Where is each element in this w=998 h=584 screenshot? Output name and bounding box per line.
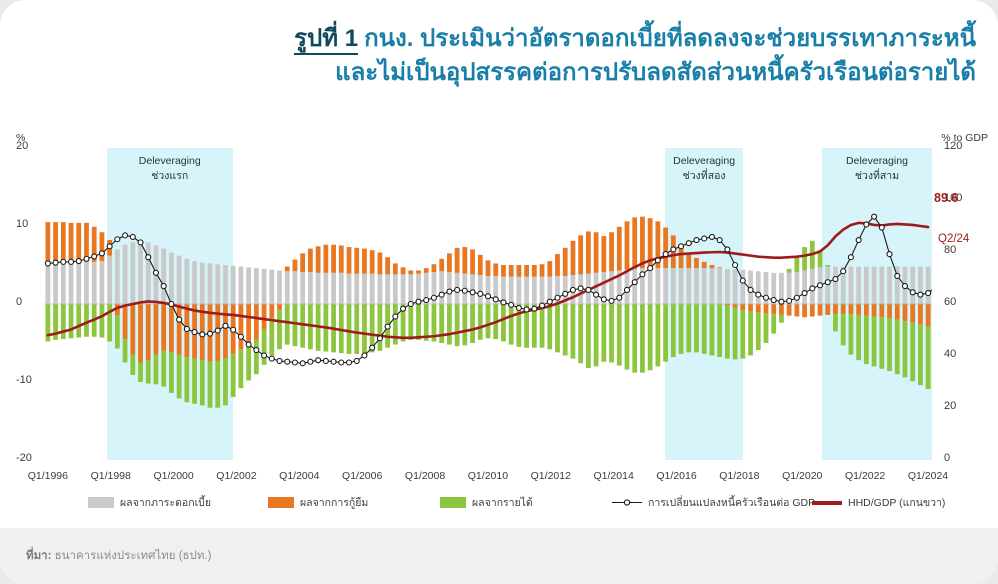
line-marker (447, 289, 452, 294)
line-marker (177, 317, 182, 322)
figure-header: รูปที่ 1กนง. ประเมินว่าอัตราดอกเบี้ยที่ล… (0, 0, 998, 118)
bar-borrowing (347, 247, 352, 274)
line-marker (640, 272, 645, 277)
bar-income (501, 304, 506, 341)
bar-borrowing (756, 304, 761, 313)
bar-interest (887, 267, 892, 304)
bar-interest (910, 267, 915, 304)
line-marker (586, 287, 591, 292)
band-label-th: ช่วงแรก (107, 169, 233, 184)
bar-interest (679, 268, 684, 304)
bar-income (138, 363, 143, 383)
bar-income (671, 304, 676, 357)
bar-borrowing (308, 249, 313, 272)
bar-borrowing (269, 304, 274, 318)
bar-interest (323, 273, 328, 304)
bar-borrowing (401, 267, 406, 274)
bar-interest (92, 262, 97, 304)
bar-income (710, 304, 715, 355)
bar-income (416, 304, 421, 340)
x-tick-label: Q1/2002 (202, 470, 270, 482)
x-tick-label: Q1/2020 (768, 470, 836, 482)
line-marker (285, 359, 290, 364)
bar-interest (53, 264, 58, 304)
line-marker (702, 236, 707, 241)
bar-borrowing (841, 304, 846, 314)
deleveraging-band-label-2: Deleveragingช่วงที่สอง (665, 154, 744, 184)
bar-income (787, 269, 792, 273)
legend-item[interactable]: ผลจากรายได้ (440, 494, 533, 511)
bar-income (694, 304, 699, 352)
line-marker (69, 259, 74, 264)
bar-income (231, 354, 236, 397)
bar-borrowing (818, 304, 823, 316)
bar-interest (269, 270, 274, 304)
bar-borrowing (578, 235, 583, 274)
bar-income (625, 304, 630, 370)
bar-interest (516, 277, 521, 304)
line-marker (733, 263, 738, 268)
line-marker (323, 358, 328, 363)
endpoint-value-label: 89.6 (934, 191, 958, 205)
bar-borrowing (285, 267, 290, 272)
bar-interest (69, 263, 74, 304)
bar-interest (439, 271, 444, 304)
bar-income (733, 308, 738, 359)
bar-income (740, 310, 745, 358)
bar-income (617, 304, 622, 366)
bar-interest (663, 268, 668, 304)
bar-borrowing (810, 304, 815, 316)
bar-interest (717, 268, 722, 304)
line-marker (331, 359, 336, 364)
line-marker (709, 234, 714, 239)
x-tick-label: Q1/2014 (580, 470, 648, 482)
bar-borrowing (323, 245, 328, 273)
bar-borrowing (478, 255, 483, 275)
bar-interest (115, 249, 120, 304)
line-marker (99, 251, 104, 256)
bar-borrowing (872, 304, 877, 316)
line-marker (462, 288, 467, 293)
bar-income (100, 304, 105, 338)
bar-income (285, 304, 290, 345)
bar-interest (293, 271, 298, 304)
line-marker (918, 292, 923, 297)
x-tick-label: Q1/2016 (643, 470, 711, 482)
line-marker (200, 332, 205, 337)
line-marker (794, 295, 799, 300)
bar-income (586, 304, 591, 368)
bar-borrowing (69, 223, 74, 264)
bar-income (748, 312, 753, 356)
bar-interest (169, 253, 174, 304)
bar-interest (872, 267, 877, 304)
bar-borrowing (555, 254, 560, 276)
line-marker (354, 358, 359, 363)
bar-interest (130, 242, 135, 304)
line-marker (316, 358, 321, 363)
bar-income (764, 313, 769, 343)
chart-graphics (44, 148, 932, 460)
figure-title: รูปที่ 1กนง. ประเมินว่าอัตราดอกเบี้ยที่ล… (176, 22, 976, 90)
bar-interest (879, 267, 884, 304)
bar-borrowing (130, 304, 135, 355)
line-marker (601, 297, 606, 302)
line-marker (856, 238, 861, 243)
bar-borrowing (532, 265, 537, 277)
line-marker (694, 238, 699, 243)
bar-income (254, 340, 259, 374)
legend-swatch-icon (88, 497, 114, 508)
bar-borrowing (702, 262, 707, 268)
line-marker (717, 238, 722, 243)
bar-interest (331, 273, 336, 304)
bar-borrowing (802, 304, 807, 317)
bar-interest (347, 274, 352, 304)
bar-borrowing (609, 232, 614, 271)
line-marker (779, 299, 784, 304)
bar-interest (926, 267, 931, 304)
bar-interest (849, 267, 854, 304)
bar-income (161, 351, 166, 387)
line-marker (486, 294, 491, 299)
bar-borrowing (509, 265, 514, 277)
bar-borrowing (787, 304, 792, 316)
bar-interest (478, 275, 483, 304)
chart-legend: ผลจากภาระดอกเบี้ยผลจากการกู้ยืมผลจากรายไ… (0, 488, 998, 518)
bar-income (655, 304, 660, 366)
line-marker (493, 297, 498, 302)
bar-interest (509, 277, 514, 304)
bar-income (354, 304, 359, 354)
line-marker (431, 295, 436, 300)
bar-borrowing (771, 304, 776, 314)
bar-income (856, 315, 861, 360)
bar-borrowing (416, 270, 421, 273)
line-marker (416, 299, 421, 304)
bar-interest (239, 267, 244, 304)
x-tick-label: Q1/2010 (454, 470, 522, 482)
bar-borrowing (246, 304, 251, 345)
bar-borrowing (146, 304, 151, 360)
deleveraging-band-label-3: Deleveragingช่วงที่สาม (822, 154, 932, 184)
bar-income (779, 315, 784, 323)
bar-income (841, 314, 846, 345)
legend-line-icon (812, 501, 842, 505)
bar-income (717, 304, 722, 357)
legend-label: ผลจากรายได้ (472, 494, 533, 511)
line-marker (841, 269, 846, 274)
line-marker (655, 258, 660, 263)
bar-income (486, 304, 491, 338)
bar-borrowing (501, 265, 506, 277)
bar-income (362, 304, 367, 353)
bar-borrowing (740, 304, 745, 310)
source-text: ธนาคารแห่งประเทศไทย (ธปท.) (55, 550, 212, 562)
line-marker (740, 278, 745, 283)
y-tick-left: 0 (16, 296, 22, 308)
bar-interest (408, 274, 413, 304)
bar-income (702, 304, 707, 354)
bar-income (146, 360, 151, 383)
bar-borrowing (177, 304, 182, 355)
line-marker (107, 244, 112, 249)
source-label: ที่มา: (26, 550, 51, 562)
line-marker (748, 287, 753, 292)
bar-interest (632, 269, 637, 304)
line-marker (153, 270, 158, 275)
band-label-en: Deleveraging (107, 154, 233, 169)
bar-income (640, 304, 645, 373)
bar-borrowing (887, 304, 892, 318)
endpoint-period-label: Q2/24 (938, 233, 969, 245)
bar-income (601, 304, 606, 362)
line-marker (887, 252, 892, 257)
bar-income (76, 304, 81, 338)
line-marker (262, 353, 267, 358)
legend-item[interactable]: การเปลี่ยนแปลงหนี้ครัวเรือนต่อ GDP (612, 494, 815, 511)
title-line-1: รูปที่ 1กนง. ประเมินว่าอัตราดอกเบี้ยที่ล… (176, 22, 976, 56)
bar-borrowing (169, 304, 174, 352)
bar-income (509, 304, 514, 345)
line-marker (725, 247, 730, 252)
bar-income (200, 360, 205, 405)
line-marker (810, 286, 815, 291)
bar-income (239, 349, 244, 388)
bar-borrowing (717, 267, 722, 268)
line-marker (926, 291, 931, 296)
bar-interest (354, 274, 359, 304)
bar-income (478, 304, 483, 340)
x-tick-label: Q1/2006 (328, 470, 396, 482)
bar-income (470, 304, 475, 343)
bar-borrowing (640, 217, 645, 268)
bar-interest (725, 269, 730, 304)
bar-income (439, 304, 444, 343)
line-marker (771, 298, 776, 303)
x-tick-label: Q1/2022 (831, 470, 899, 482)
bar-income (872, 316, 877, 366)
bar-borrowing (856, 304, 861, 315)
legend-label: ผลจากภาระดอกเบี้ย (120, 494, 211, 511)
bar-borrowing (161, 304, 166, 351)
band-label-en: Deleveraging (665, 154, 744, 169)
line-marker (192, 330, 197, 335)
line-marker (663, 252, 668, 257)
bar-borrowing (362, 249, 367, 274)
bar-interest (76, 263, 81, 304)
bar-borrowing (849, 304, 854, 314)
bar-borrowing (123, 304, 128, 339)
bar-interest (702, 268, 707, 304)
bar-income (679, 304, 684, 354)
bar-borrowing (385, 257, 390, 274)
bar-interest (177, 256, 182, 304)
bar-income (462, 304, 467, 345)
line-marker (470, 290, 475, 295)
line-marker (377, 336, 382, 341)
bar-interest (184, 259, 189, 304)
bar-interest (146, 242, 151, 304)
line-marker (763, 295, 768, 300)
bar-borrowing (625, 221, 630, 269)
bar-interest (802, 270, 807, 304)
line-marker (130, 234, 135, 239)
deleveraging-band-label-1: Deleveragingช่วงแรก (107, 154, 233, 184)
bar-income (864, 316, 869, 364)
chart-panel: % % to GDP Deleveragingช่วงแรกDeleveragi… (0, 118, 998, 528)
line-marker (115, 237, 120, 242)
bar-interest (231, 266, 236, 304)
band-label-en: Deleveraging (822, 154, 932, 169)
x-tick-label: Q1/2008 (391, 470, 459, 482)
bar-interest (740, 270, 745, 304)
bar-income (648, 304, 653, 370)
line-marker (563, 291, 568, 296)
y-tick-right: 20 (944, 400, 956, 412)
line-marker (910, 290, 915, 295)
bar-income (184, 357, 189, 402)
bar-interest (362, 274, 367, 304)
line-marker (362, 353, 367, 358)
bar-income (293, 304, 298, 346)
bar-borrowing (825, 304, 830, 315)
bar-income (378, 304, 383, 351)
line-marker (578, 286, 583, 291)
bar-interest (401, 274, 406, 304)
y-tick-left: -20 (16, 452, 32, 464)
bar-income (169, 352, 174, 393)
line-marker (501, 300, 506, 305)
line-marker (516, 305, 521, 310)
legend-item[interactable]: HHD/GDP (แกนขวา) (812, 494, 945, 511)
line-marker (671, 247, 676, 252)
line-marker (208, 331, 213, 336)
line-marker (254, 348, 259, 353)
legend-item[interactable]: ผลจากการกู้ยืม (268, 494, 368, 511)
bar-income (300, 304, 305, 348)
bar-income (115, 316, 120, 349)
line-marker (84, 256, 89, 261)
line-marker (879, 225, 884, 230)
line-marker (532, 306, 537, 311)
bar-income (802, 247, 807, 270)
bar-interest (61, 263, 66, 304)
bar-income (849, 314, 854, 355)
bar-income (347, 304, 352, 354)
bar-borrowing (462, 247, 467, 274)
bar-interest (856, 267, 861, 304)
bar-borrowing (300, 253, 305, 272)
bar-interest (447, 272, 452, 304)
bar-borrowing (53, 222, 58, 264)
bar-borrowing (439, 259, 444, 271)
bar-income (771, 314, 776, 334)
line-marker (408, 302, 413, 307)
bar-borrowing (45, 222, 50, 265)
bar-interest (138, 242, 143, 304)
bar-interest (123, 245, 128, 304)
line-marker (169, 302, 174, 307)
line-marker (902, 284, 907, 289)
source-note: ที่มา: ธนาคารแห่งประเทศไทย (ธปท.) (26, 547, 211, 565)
line-marker (238, 334, 243, 339)
bar-borrowing (493, 263, 498, 275)
bar-borrowing (733, 304, 738, 308)
bar-interest (200, 263, 205, 304)
legend-label: HHD/GDP (แกนขวา) (848, 494, 945, 511)
bar-interest (215, 264, 220, 304)
line-marker (308, 359, 313, 364)
bar-borrowing (617, 227, 622, 271)
bar-income (215, 361, 220, 408)
bar-income (540, 304, 545, 348)
bar-income (424, 304, 429, 341)
bar-interest (918, 267, 923, 304)
line-marker (439, 292, 444, 297)
line-marker (624, 287, 629, 292)
line-marker (872, 214, 877, 219)
x-tick-label: Q1/2004 (265, 470, 333, 482)
line-marker (76, 259, 81, 264)
line-marker (455, 287, 460, 292)
band-label-th: ช่วงที่สอง (665, 169, 744, 184)
line-marker (509, 302, 514, 307)
bar-interest (192, 261, 197, 304)
bar-borrowing (833, 304, 838, 314)
bar-interest (486, 276, 491, 304)
bar-borrowing (524, 265, 529, 277)
line-marker (223, 323, 228, 328)
line-marker (300, 361, 305, 366)
bar-interest (733, 269, 738, 304)
line-marker (292, 360, 297, 365)
bar-income (571, 304, 576, 359)
legend-item[interactable]: ผลจากภาระดอกเบี้ย (88, 494, 211, 511)
bar-borrowing (293, 260, 298, 272)
bar-borrowing (540, 264, 545, 276)
bar-borrowing (586, 231, 591, 273)
bar-income (926, 327, 931, 389)
bar-borrowing (794, 304, 799, 316)
bar-income (903, 321, 908, 377)
bar-income (825, 265, 830, 267)
plot-area: Deleveragingช่วงแรกDeleveragingช่วงที่สอ… (44, 148, 932, 460)
bar-interest (308, 272, 313, 304)
bar-borrowing (378, 253, 383, 275)
bar-borrowing (316, 246, 321, 273)
bar-income (547, 304, 552, 349)
bar-borrowing (408, 270, 413, 274)
bar-borrowing (370, 250, 375, 273)
bar-income (632, 304, 637, 373)
bar-income (578, 304, 583, 363)
line-marker (864, 222, 869, 227)
bar-borrowing (61, 222, 66, 263)
y-tick-left: -10 (16, 374, 32, 386)
bar-interest (686, 268, 691, 304)
bar-income (879, 317, 884, 368)
line-marker (632, 280, 637, 285)
bar-borrowing (748, 304, 753, 312)
line-marker (540, 303, 545, 308)
line-marker (393, 314, 398, 319)
bar-borrowing (470, 249, 475, 274)
line-marker (555, 295, 560, 300)
bar-borrowing (254, 304, 259, 340)
title-line-2: และไม่เป็นอุปสรรคต่อการปรับลดสัดส่วนหนี้… (176, 56, 976, 90)
